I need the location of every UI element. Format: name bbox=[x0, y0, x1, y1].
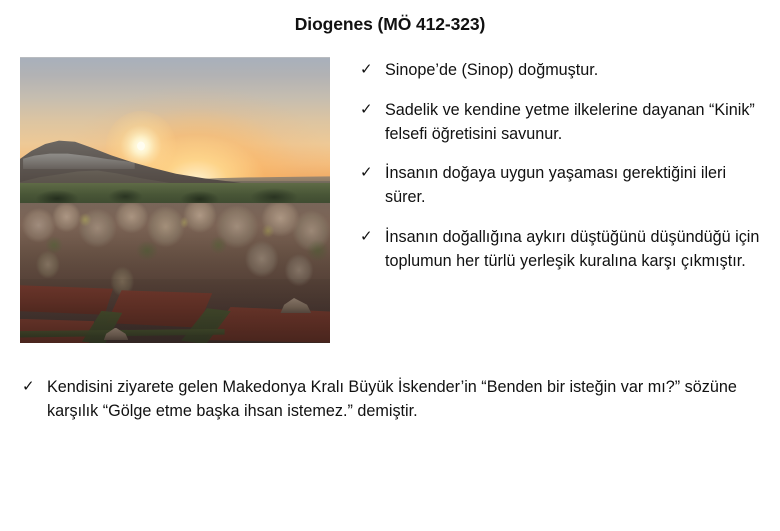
list-item: ✓ İnsanın doğallığına aykırı düştüğünü d… bbox=[358, 226, 762, 274]
list-item: ✓ Kendisini ziyarete gelen Makedonya Kra… bbox=[20, 376, 764, 424]
checkmark-icon: ✓ bbox=[360, 59, 376, 81]
list-item: ✓ Sadelik ve kendine yetme ilkelerine da… bbox=[358, 99, 762, 147]
photo-content bbox=[20, 58, 330, 343]
cappadocia-sunset-valley-photo bbox=[20, 57, 330, 343]
bullet-list-bottom: ✓ Kendisini ziyarete gelen Makedonya Kra… bbox=[20, 376, 764, 424]
checkmark-icon: ✓ bbox=[360, 162, 376, 184]
list-item: ✓ İnsanın doğaya uygun yaşaması gerektiğ… bbox=[358, 162, 762, 210]
list-item-label: İnsanın doğallığına aykırı düştüğünü düş… bbox=[385, 226, 762, 274]
bullet-list-right: ✓ Sinope’de (Sinop) doğmuştur. ✓ Sadelik… bbox=[358, 59, 762, 290]
checkmark-icon: ✓ bbox=[22, 376, 38, 398]
checkmark-icon: ✓ bbox=[360, 226, 376, 248]
checkmark-icon: ✓ bbox=[360, 99, 376, 121]
list-item-label: Sinope’de (Sinop) doğmuştur. bbox=[385, 59, 762, 83]
list-item-label: İnsanın doğaya uygun yaşaması gerektiğin… bbox=[385, 162, 762, 210]
page-title: Diogenes (MÖ 412-323) bbox=[0, 14, 780, 35]
list-item-label: Kendisini ziyarete gelen Makedonya Kralı… bbox=[47, 376, 764, 424]
slide-root: Diogenes (MÖ 412-323) bbox=[0, 0, 780, 531]
list-item: ✓ Sinope’de (Sinop) doğmuştur. bbox=[358, 59, 762, 83]
dusk-shading-overlay bbox=[20, 58, 330, 343]
list-item-label: Sadelik ve kendine yetme ilkelerine daya… bbox=[385, 99, 762, 147]
